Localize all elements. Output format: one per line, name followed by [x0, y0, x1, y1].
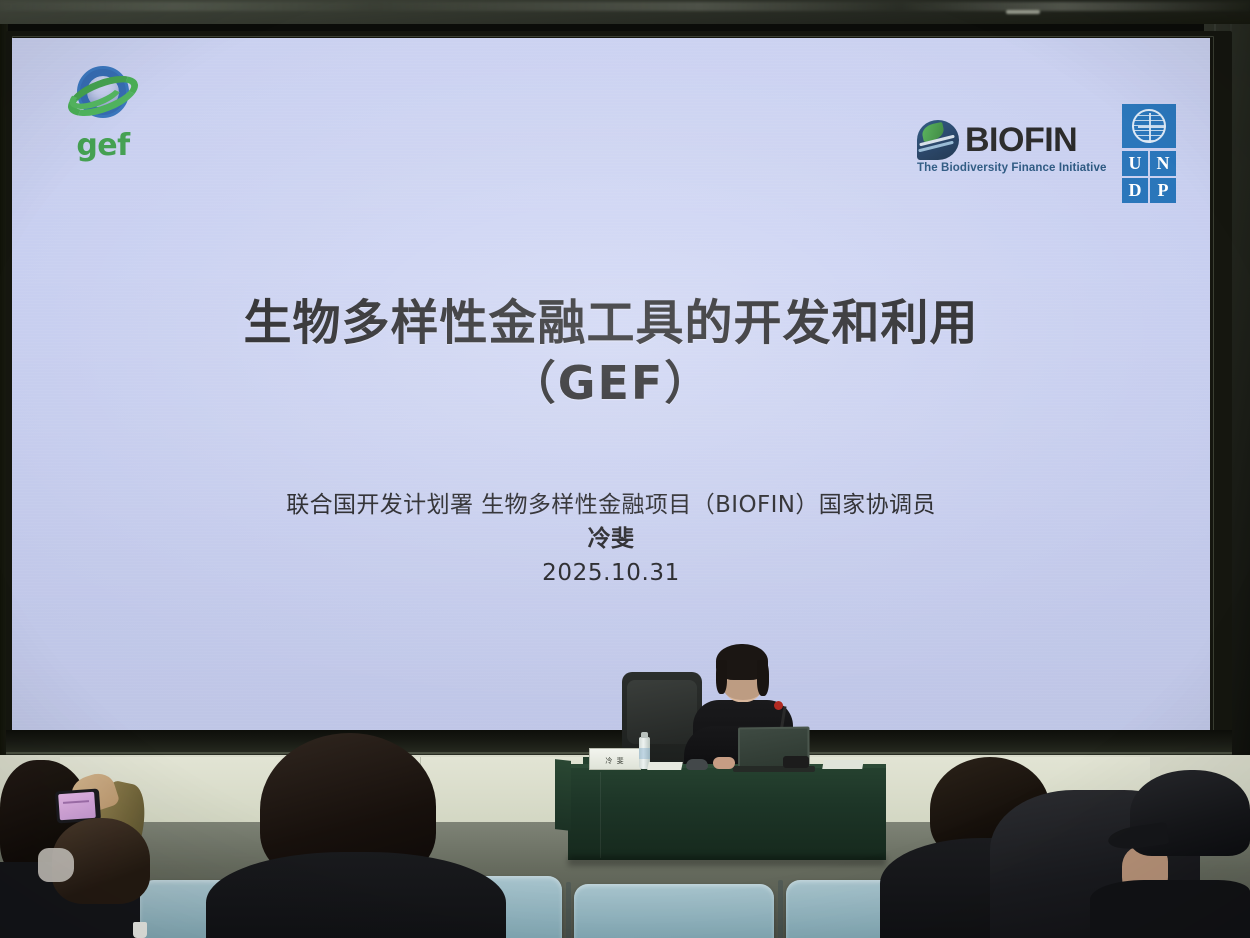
- presentation-slide: gef BIOFIN The Biodiversity Finance Init…: [12, 38, 1210, 730]
- undp-logo: U N D P: [1122, 104, 1182, 204]
- seat-divider: [566, 882, 571, 938]
- slide-subtitle: 联合国开发计划署 生物多样性金融项目（BIOFIN）国家协调员 冷斐 2025.…: [12, 488, 1210, 590]
- name-card-text: 冷 斐: [590, 756, 640, 766]
- audience-shoulders: [1090, 880, 1250, 938]
- speaker-hand: [713, 757, 735, 769]
- table-shadow: [568, 856, 886, 866]
- audience-face-mask: [38, 848, 74, 882]
- table-left-panel: [555, 759, 571, 831]
- water-bottle-cap: [641, 732, 648, 738]
- undp-letter-d: D: [1122, 178, 1148, 203]
- ceiling-band: [0, 0, 1250, 24]
- papers-right: [822, 760, 864, 769]
- undp-letter-u: U: [1122, 151, 1148, 176]
- microphone-head: [774, 701, 783, 710]
- gef-globe-icon: [66, 64, 140, 132]
- microphone-base: [783, 756, 809, 768]
- un-globe-icon: [1122, 104, 1176, 148]
- undp-letter-p: P: [1150, 178, 1176, 203]
- biofin-wordmark: BIOFIN: [965, 123, 1077, 157]
- speaker-hair-right: [757, 660, 769, 696]
- name-card: 冷 斐: [589, 748, 641, 770]
- gef-wordmark: gef: [60, 130, 146, 162]
- chair-backrest: [627, 680, 697, 744]
- biofin-row: BIOFIN: [917, 120, 1117, 160]
- conference-table: [568, 768, 886, 860]
- seat-divider: [778, 880, 783, 938]
- biofin-tagline: The Biodiversity Finance Initiative: [917, 162, 1117, 174]
- ceiling-gloss: [0, 2, 1250, 11]
- speaker-hair-left: [716, 660, 727, 694]
- un-globe-shape: [1132, 109, 1166, 143]
- slide-title: 生物多样性金融工具的开发和利用 （GEF）: [12, 293, 1210, 413]
- slide-presenter-name: 冷斐: [12, 522, 1210, 556]
- paper-cup: [133, 922, 147, 938]
- water-bottle-label: [639, 748, 650, 759]
- screenshot-stage: gef BIOFIN The Biodiversity Finance Init…: [0, 0, 1250, 938]
- slide-title-line2: （GEF）: [12, 353, 1210, 413]
- table-cloth-fold: [600, 772, 601, 858]
- papers-left: [647, 762, 683, 770]
- slide-title-line1: 生物多样性金融工具的开发和利用: [243, 295, 978, 351]
- biofin-leaf-icon: [917, 120, 959, 160]
- gef-logo: gef: [60, 64, 146, 172]
- auditorium-seat: [574, 884, 774, 938]
- slide-subtitle-affiliation: 联合国开发计划署 生物多样性金融项目（BIOFIN）国家协调员: [286, 492, 936, 518]
- slide-date: 2025.10.31: [12, 556, 1210, 590]
- undp-letter-grid: U N D P: [1122, 151, 1176, 203]
- undp-letter-n: N: [1150, 151, 1176, 176]
- smartphone-screen: [58, 792, 96, 820]
- ceiling-glint: [1006, 10, 1040, 14]
- audience-shoulders: [206, 852, 506, 938]
- biofin-logo: BIOFIN The Biodiversity Finance Initiati…: [917, 120, 1117, 192]
- computer-mouse: [686, 759, 708, 770]
